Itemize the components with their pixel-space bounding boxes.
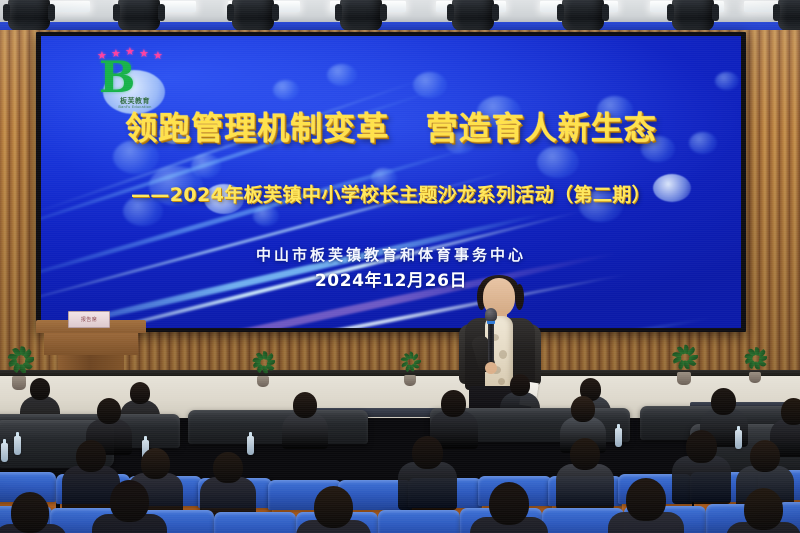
screen-title-main: 领跑管理机制变革 营造育人新生态 bbox=[41, 111, 741, 146]
microphone-body bbox=[488, 318, 494, 362]
screen-organization: 中山市板芙镇教育和体育事务中心 bbox=[41, 244, 741, 265]
star-icon: ★ bbox=[153, 50, 164, 61]
stage-light-icon bbox=[8, 0, 50, 31]
person-shoulders bbox=[556, 464, 614, 510]
water-bottle bbox=[14, 436, 21, 455]
bokeh-circle bbox=[537, 146, 579, 178]
stage-light-icon bbox=[118, 0, 160, 31]
person-head bbox=[686, 430, 717, 463]
plant-pot bbox=[12, 376, 27, 390]
scarf-pattern bbox=[499, 350, 507, 359]
person-head bbox=[213, 452, 242, 483]
person-head bbox=[130, 382, 151, 404]
bokeh-circle bbox=[327, 64, 357, 86]
plant-pot bbox=[257, 376, 269, 387]
water-bottle bbox=[247, 436, 254, 455]
plant-pot bbox=[677, 372, 690, 385]
bokeh-circle bbox=[273, 80, 299, 100]
stage-light-icon bbox=[232, 0, 274, 31]
speaker-hair-right bbox=[515, 284, 524, 310]
person-head bbox=[489, 482, 529, 525]
person-shoulders bbox=[282, 413, 328, 450]
stage-light-icon bbox=[562, 0, 604, 31]
screen-date: 2024年12月26日 bbox=[41, 266, 741, 291]
person-head bbox=[781, 398, 800, 425]
person-head bbox=[11, 492, 49, 533]
person-head bbox=[570, 438, 600, 470]
person-head bbox=[30, 378, 51, 400]
person-head bbox=[293, 392, 317, 418]
person-shoulders bbox=[672, 456, 731, 503]
logo-letter-mark: B bbox=[99, 57, 133, 100]
person-shoulders bbox=[398, 462, 457, 509]
person-head bbox=[314, 486, 353, 528]
person-head bbox=[441, 390, 466, 417]
person-head bbox=[626, 478, 666, 521]
bokeh-circle bbox=[715, 72, 739, 90]
plant-pot bbox=[749, 372, 761, 383]
water-bottle bbox=[735, 430, 742, 449]
water-bottle bbox=[1, 443, 8, 462]
star-icon: ★ bbox=[139, 48, 150, 59]
person-head bbox=[744, 488, 783, 530]
microphone-icon bbox=[485, 308, 497, 321]
person-head bbox=[76, 440, 106, 472]
potted-plant bbox=[400, 356, 420, 393]
stage-light-icon bbox=[672, 0, 714, 31]
person-head bbox=[510, 374, 531, 396]
conference-hall-photo: ★★★★★ B 板芙教育 BanFu Education 领跑管理机制变革 营造… bbox=[0, 0, 800, 533]
person-head bbox=[97, 398, 121, 424]
person-head bbox=[141, 448, 170, 479]
person-head bbox=[571, 396, 595, 422]
person-head bbox=[711, 388, 736, 415]
potted-plant bbox=[672, 350, 696, 390]
speaker-hand bbox=[485, 362, 497, 374]
stage-light-icon bbox=[340, 0, 382, 31]
auditorium-seat-blue bbox=[378, 510, 460, 533]
stage-light-icon bbox=[452, 0, 494, 31]
potted-plant bbox=[744, 352, 766, 390]
stage-light-icon bbox=[778, 0, 800, 31]
person-head bbox=[412, 436, 443, 469]
audience-bench bbox=[188, 410, 368, 444]
event-logo: ★★★★★ B 板芙教育 BanFu Education bbox=[79, 46, 187, 118]
screen-title-sub: ——2024年板芙镇中小学校长主题沙龙系列活动（第二期） bbox=[41, 180, 741, 207]
water-bottle bbox=[615, 428, 622, 447]
led-screen-frame: ★★★★★ B 板芙教育 BanFu Education 领跑管理机制变革 营造… bbox=[36, 32, 746, 332]
potted-plant bbox=[252, 356, 274, 394]
podium-body bbox=[44, 331, 138, 355]
potted-plant bbox=[6, 352, 32, 394]
person-head bbox=[110, 480, 149, 522]
auditorium-seat-blue bbox=[214, 512, 296, 533]
plant-pot bbox=[404, 375, 415, 386]
podium-sign: 报告席 bbox=[68, 311, 110, 328]
person-head bbox=[750, 440, 780, 472]
led-screen: ★★★★★ B 板芙教育 BanFu Education 领跑管理机制变革 营造… bbox=[41, 36, 741, 328]
scarf-pattern bbox=[498, 378, 505, 385]
